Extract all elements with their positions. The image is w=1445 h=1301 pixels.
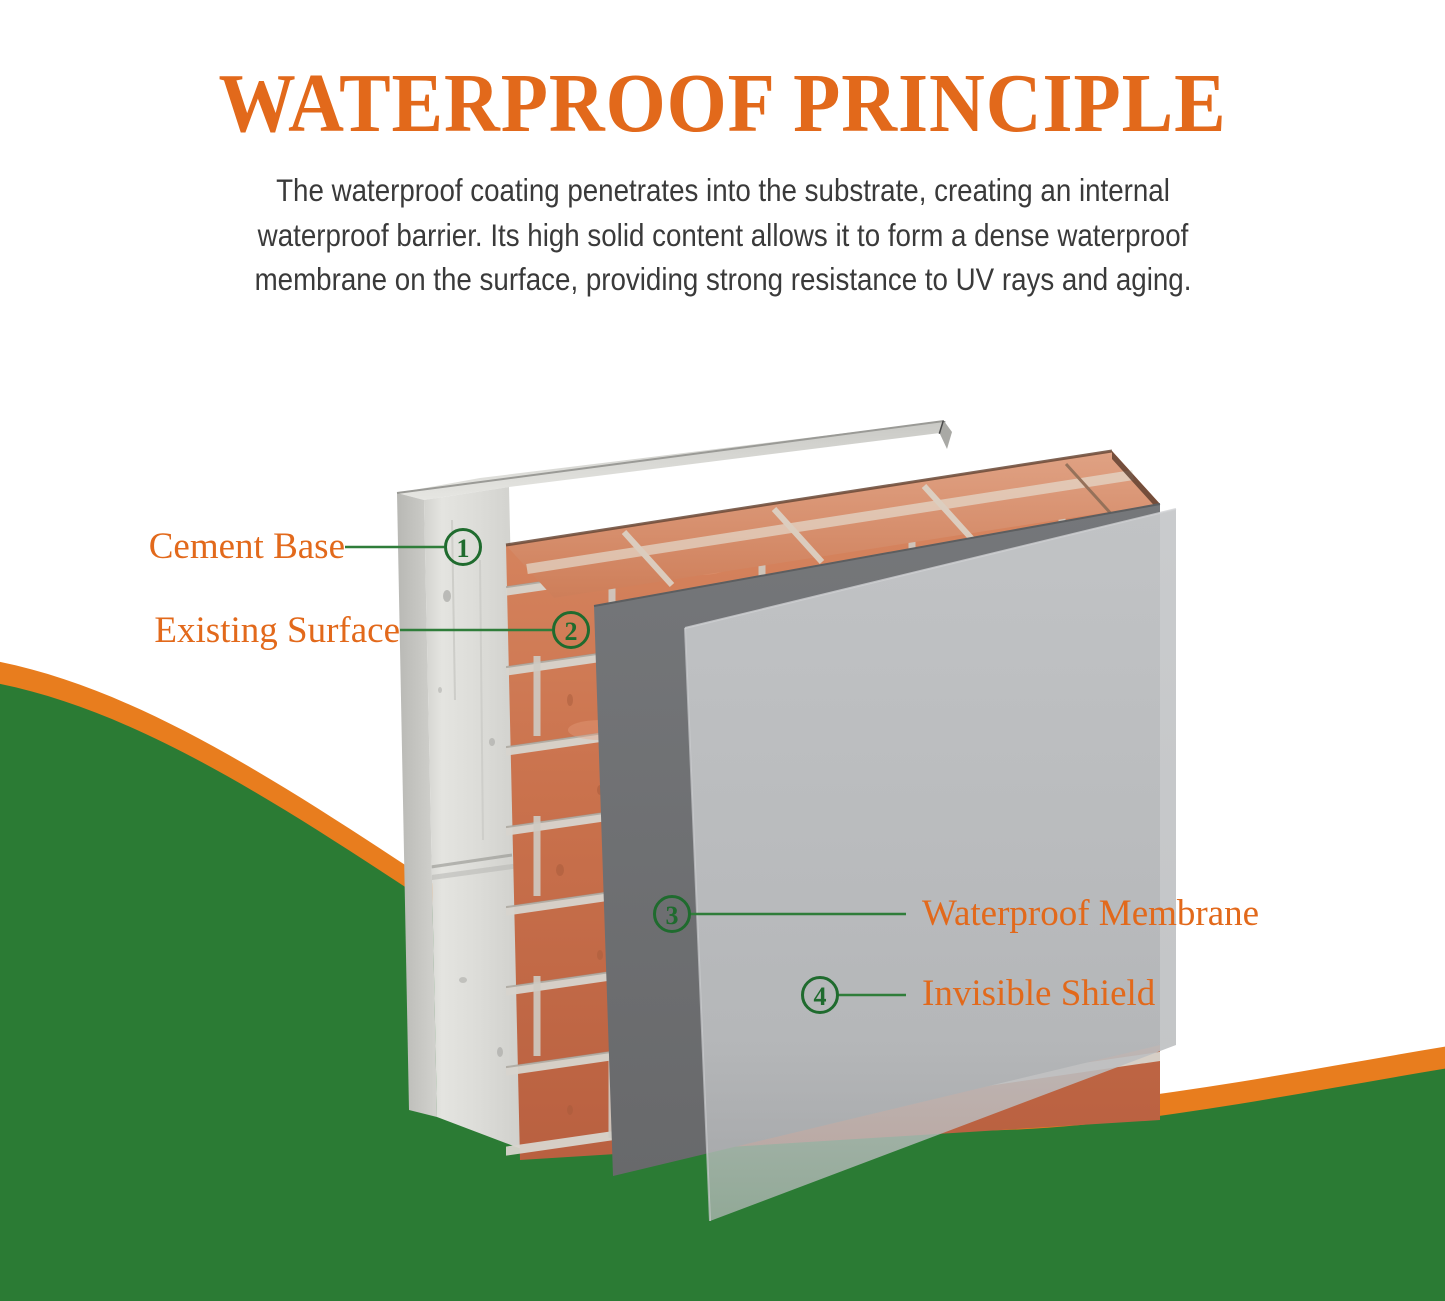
callout-label-existing-surface: Existing Surface xyxy=(95,612,400,649)
callout-label-waterproof-membrane: Waterproof Membrane xyxy=(922,895,1259,932)
callout-label-cement-base: Cement Base xyxy=(95,528,345,565)
callout-label-invisible-shield: Invisible Shield xyxy=(922,975,1155,1012)
callout-number-4: 4 xyxy=(814,982,827,1011)
callout-number-1: 1 xyxy=(457,534,470,563)
slab-top-edge-shadow xyxy=(397,421,944,493)
callout-number-3: 3 xyxy=(666,901,679,930)
infographic-canvas: WATERPROOF PRINCIPLE The waterproof coat… xyxy=(0,0,1445,1301)
callout-number-2: 2 xyxy=(565,617,578,646)
